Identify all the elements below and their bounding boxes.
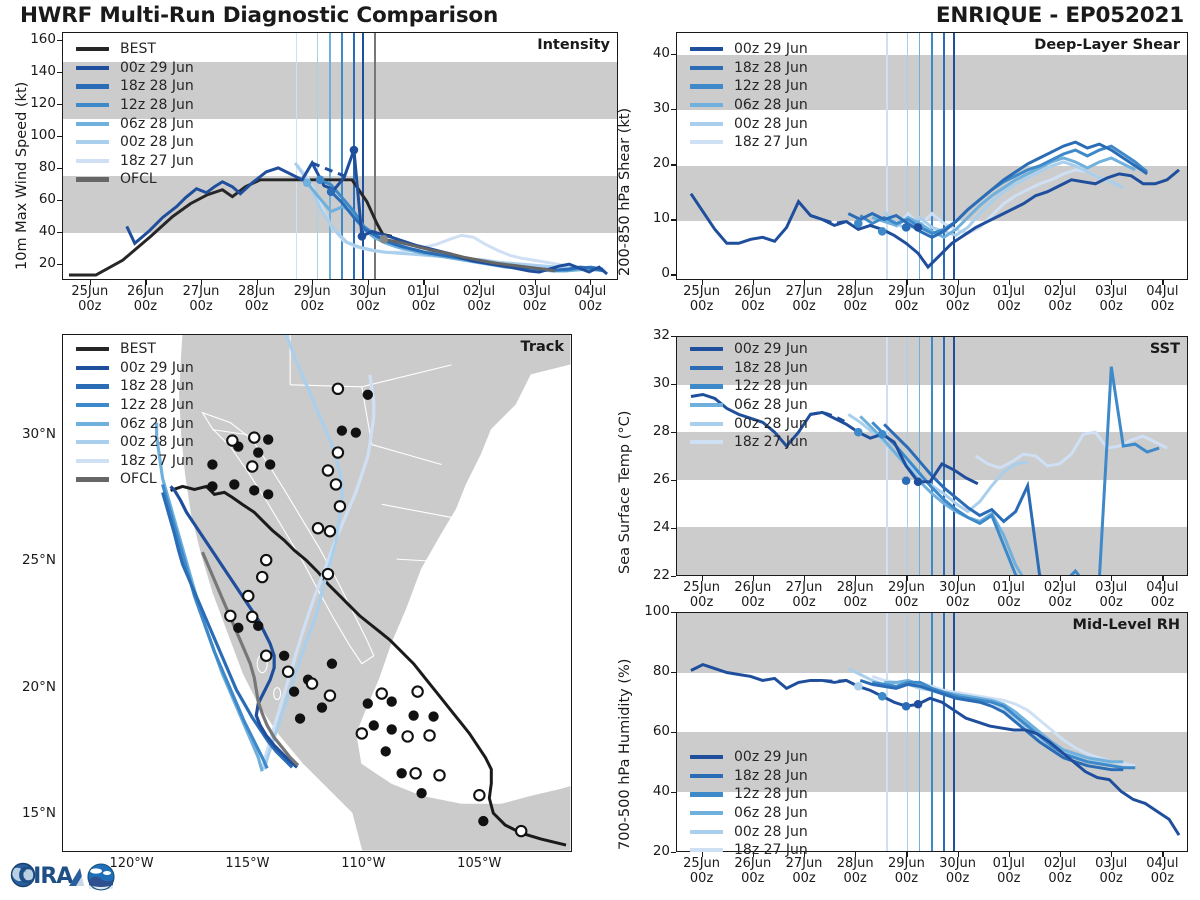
shear-xtick-mark-1 [753, 280, 754, 285]
shear-legend-label-run-4: 00z 28 Jun [734, 116, 808, 132]
legend-label-run-5: 18z 27 Jun [120, 153, 194, 169]
shear-legend-label-run-0: 00z 29 Jun [734, 41, 808, 57]
shear-legend-item-run-1: 18z 28 Jun [690, 59, 808, 78]
sst-xtick-mark-6 [1009, 576, 1010, 581]
rh-ytick-3: 80 [632, 663, 670, 679]
sst-ytick-1: 24 [632, 519, 670, 535]
shear-xtick-mark-0 [702, 280, 703, 285]
legend-item-run-4: 00z 28 Jun [76, 133, 194, 152]
rh-ytick-2: 60 [632, 723, 670, 739]
track-legend-item-run-3: 06z 28 Jun [76, 414, 194, 433]
track-legend-swatch-best [76, 347, 109, 351]
rh-legend-label-run-0: 00z 29 Jun [734, 749, 808, 765]
rh-ytick-1: 40 [632, 783, 670, 799]
legend-label-run-4: 00z 28 Jun [120, 134, 194, 150]
intensity-xtick-mark-8 [535, 280, 536, 285]
rh-legend-label-run-4: 00z 28 Jun [734, 824, 808, 840]
track-legend-label-run-0: 00z 29 Jun [120, 360, 194, 376]
rh-y-axis-label: 700-500 hPa Humidity (%) [617, 659, 633, 850]
intensity-ytick-mark-4 [57, 136, 62, 137]
shear-ytick-mark-4 [671, 54, 676, 55]
shear-ytick-mark-3 [671, 109, 676, 110]
page-title-right: ENRIQUE - EP052021 [936, 3, 1184, 28]
shear-legend-item-run-3: 06z 28 Jun [690, 96, 808, 115]
shear-xtick-mark-9 [1162, 280, 1163, 285]
track-ytick-2: 25°N [4, 552, 56, 568]
track-legend-label-run-1: 18z 28 Jun [120, 378, 194, 394]
legend-swatch-run-5 [76, 159, 109, 163]
legend-label-run-3: 06z 28 Jun [120, 116, 194, 132]
sst-legend-item-run-0: 00z 29 Jun [690, 340, 808, 359]
shear-legend-item-run-0: 00z 29 Jun [690, 40, 808, 59]
shear-xtick-mark-6 [1009, 280, 1010, 285]
rh-legend-item-run-0: 00z 29 Jun [690, 748, 808, 767]
sst-legend: 00z 29 Jun 18z 28 Jun 12z 28 Jun 06z 28 … [690, 340, 808, 452]
track-panel-label: Track [521, 339, 564, 355]
rh-xtick-mark-5 [958, 852, 959, 857]
sst-legend-label-run-2: 12z 28 Jun [734, 378, 808, 394]
rh-xtick-mark-8 [1111, 852, 1112, 857]
rh-legend-item-run-2: 12z 28 Jun [690, 785, 808, 804]
track-legend-swatch-run-5 [76, 459, 109, 463]
shear-ytick-mark-1 [671, 219, 676, 220]
track-xtick-3: 105°W [443, 857, 515, 872]
rh-xtick-mark-3 [855, 852, 856, 857]
track-ytick-0: 15°N [4, 805, 56, 821]
page-title-left: HWRF Multi-Run Diagnostic Comparison [20, 3, 498, 28]
intensity-ytick-6: 140 [18, 63, 56, 79]
sst-legend-label-run-0: 00z 29 Jun [734, 341, 808, 357]
legend-item-run-0: 00z 29 Jun [76, 59, 194, 78]
rh-ytick-mark-0 [671, 852, 676, 853]
track-ytick-3: 30°N [4, 426, 56, 442]
sst-legend-swatch-run-0 [690, 347, 723, 351]
rh-legend-label-run-3: 06z 28 Jun [734, 805, 808, 821]
shear-legend-item-run-4: 00z 28 Jun [690, 114, 808, 133]
sst-xtick-mark-5 [958, 576, 959, 581]
intensity-ytick-mark-7 [57, 40, 62, 41]
intensity-ytick-1: 40 [18, 223, 56, 239]
track-legend-label-run-4: 00z 28 Jun [120, 434, 194, 450]
sst-ytick-mark-0 [671, 576, 676, 577]
intensity-ytick-mark-3 [57, 168, 62, 169]
shear-legend-item-run-5: 18z 27 Jun [690, 133, 808, 152]
shear-legend-swatch-run-3 [690, 103, 723, 107]
intensity-ytick-mark-1 [57, 232, 62, 233]
legend-swatch-run-2 [76, 103, 109, 107]
sst-legend-swatch-run-4 [690, 422, 723, 426]
intensity-legend: BEST 00z 29 Jun 18z 28 Jun 12z 28 Jun 06… [76, 40, 194, 189]
sst-ytick-mark-2 [671, 480, 676, 481]
legend-swatch-run-3 [76, 122, 109, 126]
track-legend-swatch-run-0 [76, 366, 109, 370]
sst-xtick-mark-0 [702, 576, 703, 581]
sst-y-axis-label: Sea Surface Temp (°C) [617, 411, 633, 574]
shear-legend-label-run-5: 18z 27 Jun [734, 134, 808, 150]
shear-xtick-mark-8 [1111, 280, 1112, 285]
sst-ytick-mark-5 [671, 336, 676, 337]
sst-xtick-mark-9 [1162, 576, 1163, 581]
track-legend-item-best: BEST [76, 340, 194, 359]
track-legend-label-run-5: 18z 27 Jun [120, 453, 194, 469]
shear-xtick-mark-4 [906, 280, 907, 285]
sst-panel-label: SST [1150, 341, 1180, 357]
intensity-xtick-mark-6 [423, 280, 424, 285]
legend-swatch-ofcl [76, 177, 109, 181]
sst-legend-label-run-1: 18z 28 Jun [734, 360, 808, 376]
sst-legend-label-run-4: 00z 28 Jun [734, 416, 808, 432]
track-legend-swatch-run-4 [76, 440, 109, 444]
rh-legend-swatch-run-3 [690, 811, 723, 815]
legend-label-best: BEST [120, 41, 156, 57]
shear-ytick-3: 30 [632, 100, 670, 116]
track-legend-label-ofcl: OFCL [120, 471, 157, 487]
rh-xtick-mark-9 [1162, 852, 1163, 857]
sst-legend-item-run-5: 18z 27 Jun [690, 433, 808, 452]
rh-legend-swatch-run-5 [690, 848, 723, 852]
legend-label-ofcl: OFCL [120, 171, 157, 187]
sst-legend-item-run-3: 06z 28 Jun [690, 396, 808, 415]
sst-xtick-mark-4 [906, 576, 907, 581]
rh-legend-item-run-1: 18z 28 Jun [690, 767, 808, 786]
rh-ytick-0: 20 [632, 843, 670, 859]
sst-legend-swatch-run-5 [690, 440, 723, 444]
shear-xtick-mark-7 [1060, 280, 1061, 285]
shear-ytick-0: 0 [632, 265, 670, 281]
rh-legend-item-run-3: 06z 28 Jun [690, 804, 808, 823]
track-legend: BEST 00z 29 Jun 18z 28 Jun 12z 28 Jun 06… [76, 340, 194, 489]
sst-xtick-mark-8 [1111, 576, 1112, 581]
intensity-ytick-3: 80 [18, 159, 56, 175]
intensity-ytick-mark-0 [57, 264, 62, 265]
shear-legend-swatch-run-4 [690, 122, 723, 126]
rh-legend-label-run-2: 12z 28 Jun [734, 786, 808, 802]
track-legend-swatch-ofcl [76, 477, 109, 481]
legend-item-best: BEST [76, 40, 194, 59]
intensity-xtick-mark-4 [312, 280, 313, 285]
rh-legend-label-run-5: 18z 27 Jun [734, 842, 808, 858]
rh-ytick-4: 100 [632, 603, 670, 619]
shear-xtick-mark-3 [855, 280, 856, 285]
legend-item-ofcl: OFCL [76, 170, 194, 189]
track-legend-item-run-2: 12z 28 Jun [76, 396, 194, 415]
sst-xtick-mark-3 [855, 576, 856, 581]
rh-xtick-9: 04Jul00z [1126, 857, 1198, 886]
intensity-xtick-mark-1 [145, 280, 146, 285]
intensity-ytick-5: 120 [18, 95, 56, 111]
track-legend-item-run-5: 18z 27 Jun [76, 452, 194, 471]
track-legend-item-run-0: 00z 29 Jun [76, 359, 194, 378]
track-legend-label-best: BEST [120, 341, 156, 357]
rh-ytick-mark-4 [671, 612, 676, 613]
shear-ytick-mark-2 [671, 164, 676, 165]
legend-swatch-run-4 [76, 140, 109, 144]
shear-legend-label-run-1: 18z 28 Jun [734, 60, 808, 76]
track-legend-swatch-run-1 [76, 384, 109, 388]
rh-legend-swatch-run-1 [690, 774, 723, 778]
rh-panel-label: Mid-Level RH [1073, 617, 1180, 633]
rh-legend-swatch-run-4 [690, 830, 723, 834]
sst-ytick-4: 30 [632, 375, 670, 391]
intensity-xtick-mark-3 [257, 280, 258, 285]
sst-ytick-0: 22 [632, 567, 670, 583]
intensity-ytick-7: 160 [18, 31, 56, 47]
shear-legend-swatch-run-5 [690, 140, 723, 144]
legend-label-run-2: 12z 28 Jun [120, 97, 194, 113]
sst-legend-item-run-4: 00z 28 Jun [690, 414, 808, 433]
shear-xtick-9: 04Jul00z [1126, 285, 1198, 314]
rh-legend-item-run-5: 18z 27 Jun [690, 841, 808, 860]
sst-legend-label-run-5: 18z 27 Jun [734, 434, 808, 450]
rh-xtick-mark-7 [1060, 852, 1061, 857]
shear-legend: 00z 29 Jun 18z 28 Jun 12z 28 Jun 06z 28 … [690, 40, 808, 152]
intensity-xtick-mark-9 [590, 280, 591, 285]
track-legend-label-run-2: 12z 28 Jun [120, 397, 194, 413]
intensity-ytick-0: 20 [18, 255, 56, 271]
track-legend-swatch-run-3 [76, 422, 109, 426]
intensity-ytick-4: 100 [18, 127, 56, 143]
svg-text:CIRA: CIRA [18, 864, 73, 889]
sst-legend-label-run-3: 06z 28 Jun [734, 397, 808, 413]
sst-xtick-9: 04Jul00z [1126, 581, 1198, 610]
legend-label-run-1: 18z 28 Jun [120, 78, 194, 94]
shear-ytick-2: 20 [632, 155, 670, 171]
sst-ytick-mark-4 [671, 384, 676, 385]
rh-legend-label-run-1: 18z 28 Jun [734, 768, 808, 784]
cira-logo: CIRA [6, 856, 128, 896]
track-xtick-2: 110°W [327, 857, 399, 872]
legend-swatch-run-1 [76, 84, 109, 88]
track-legend-item-run-4: 00z 28 Jun [76, 433, 194, 452]
track-xtick-1: 115°W [211, 857, 283, 872]
legend-label-run-0: 00z 29 Jun [120, 60, 194, 76]
shear-panel-label: Deep-Layer Shear [1034, 37, 1180, 53]
legend-swatch-run-0 [76, 66, 109, 70]
shear-y-axis-label: 200-850 hPa Shear (kt) [617, 108, 633, 276]
sst-legend-item-run-2: 12z 28 Jun [690, 377, 808, 396]
shear-ytick-mark-0 [671, 274, 676, 275]
track-ytick-1: 20°N [4, 679, 56, 695]
track-legend-item-ofcl: OFCL [76, 470, 194, 489]
rh-xtick-mark-6 [1009, 852, 1010, 857]
shear-legend-label-run-3: 06z 28 Jun [734, 97, 808, 113]
sst-legend-swatch-run-1 [690, 366, 723, 370]
legend-swatch-best [76, 47, 109, 51]
intensity-ytick-mark-5 [57, 104, 62, 105]
track-legend-item-run-1: 18z 28 Jun [76, 377, 194, 396]
sst-ytick-5: 32 [632, 327, 670, 343]
rh-legend-swatch-run-2 [690, 792, 723, 796]
rh-ytick-mark-2 [671, 732, 676, 733]
intensity-panel-label: Intensity [537, 37, 610, 53]
rh-ytick-mark-1 [671, 792, 676, 793]
shear-legend-item-run-2: 12z 28 Jun [690, 77, 808, 96]
sst-ytick-3: 28 [632, 423, 670, 439]
sst-ytick-mark-3 [671, 432, 676, 433]
legend-item-run-1: 18z 28 Jun [76, 77, 194, 96]
legend-item-run-2: 12z 28 Jun [76, 96, 194, 115]
intensity-ytick-mark-2 [57, 200, 62, 201]
shear-ytick-1: 10 [632, 210, 670, 226]
shear-xtick-mark-5 [958, 280, 959, 285]
sst-xtick-mark-7 [1060, 576, 1061, 581]
shear-xtick-mark-2 [804, 280, 805, 285]
sst-legend-swatch-run-3 [690, 403, 723, 407]
rh-legend-swatch-run-0 [690, 755, 723, 759]
shear-ytick-4: 40 [632, 45, 670, 61]
intensity-xtick-mark-5 [368, 280, 369, 285]
intensity-xtick-9: 04Jul00z [554, 285, 626, 314]
shear-legend-swatch-run-0 [690, 47, 723, 51]
shear-legend-label-run-2: 12z 28 Jun [734, 78, 808, 94]
intensity-ytick-mark-6 [57, 72, 62, 73]
sst-xtick-mark-1 [753, 576, 754, 581]
track-legend-label-run-3: 06z 28 Jun [120, 416, 194, 432]
rh-xtick-mark-4 [906, 852, 907, 857]
sst-ytick-mark-1 [671, 528, 676, 529]
intensity-xtick-mark-2 [201, 280, 202, 285]
shear-legend-swatch-run-2 [690, 84, 723, 88]
sst-ytick-2: 26 [632, 471, 670, 487]
intensity-xtick-mark-0 [90, 280, 91, 285]
legend-item-run-5: 18z 27 Jun [76, 152, 194, 171]
rh-legend-item-run-4: 00z 28 Jun [690, 822, 808, 841]
sst-legend-item-run-1: 18z 28 Jun [690, 359, 808, 378]
intensity-ytick-2: 60 [18, 191, 56, 207]
sst-legend-swatch-run-2 [690, 384, 723, 388]
rh-legend: 00z 29 Jun 18z 28 Jun 12z 28 Jun 06z 28 … [690, 748, 808, 860]
intensity-xtick-mark-7 [479, 280, 480, 285]
shear-legend-swatch-run-1 [690, 66, 723, 70]
sst-xtick-mark-2 [804, 576, 805, 581]
legend-item-run-3: 06z 28 Jun [76, 114, 194, 133]
rh-ytick-mark-3 [671, 672, 676, 673]
track-legend-swatch-run-2 [76, 403, 109, 407]
